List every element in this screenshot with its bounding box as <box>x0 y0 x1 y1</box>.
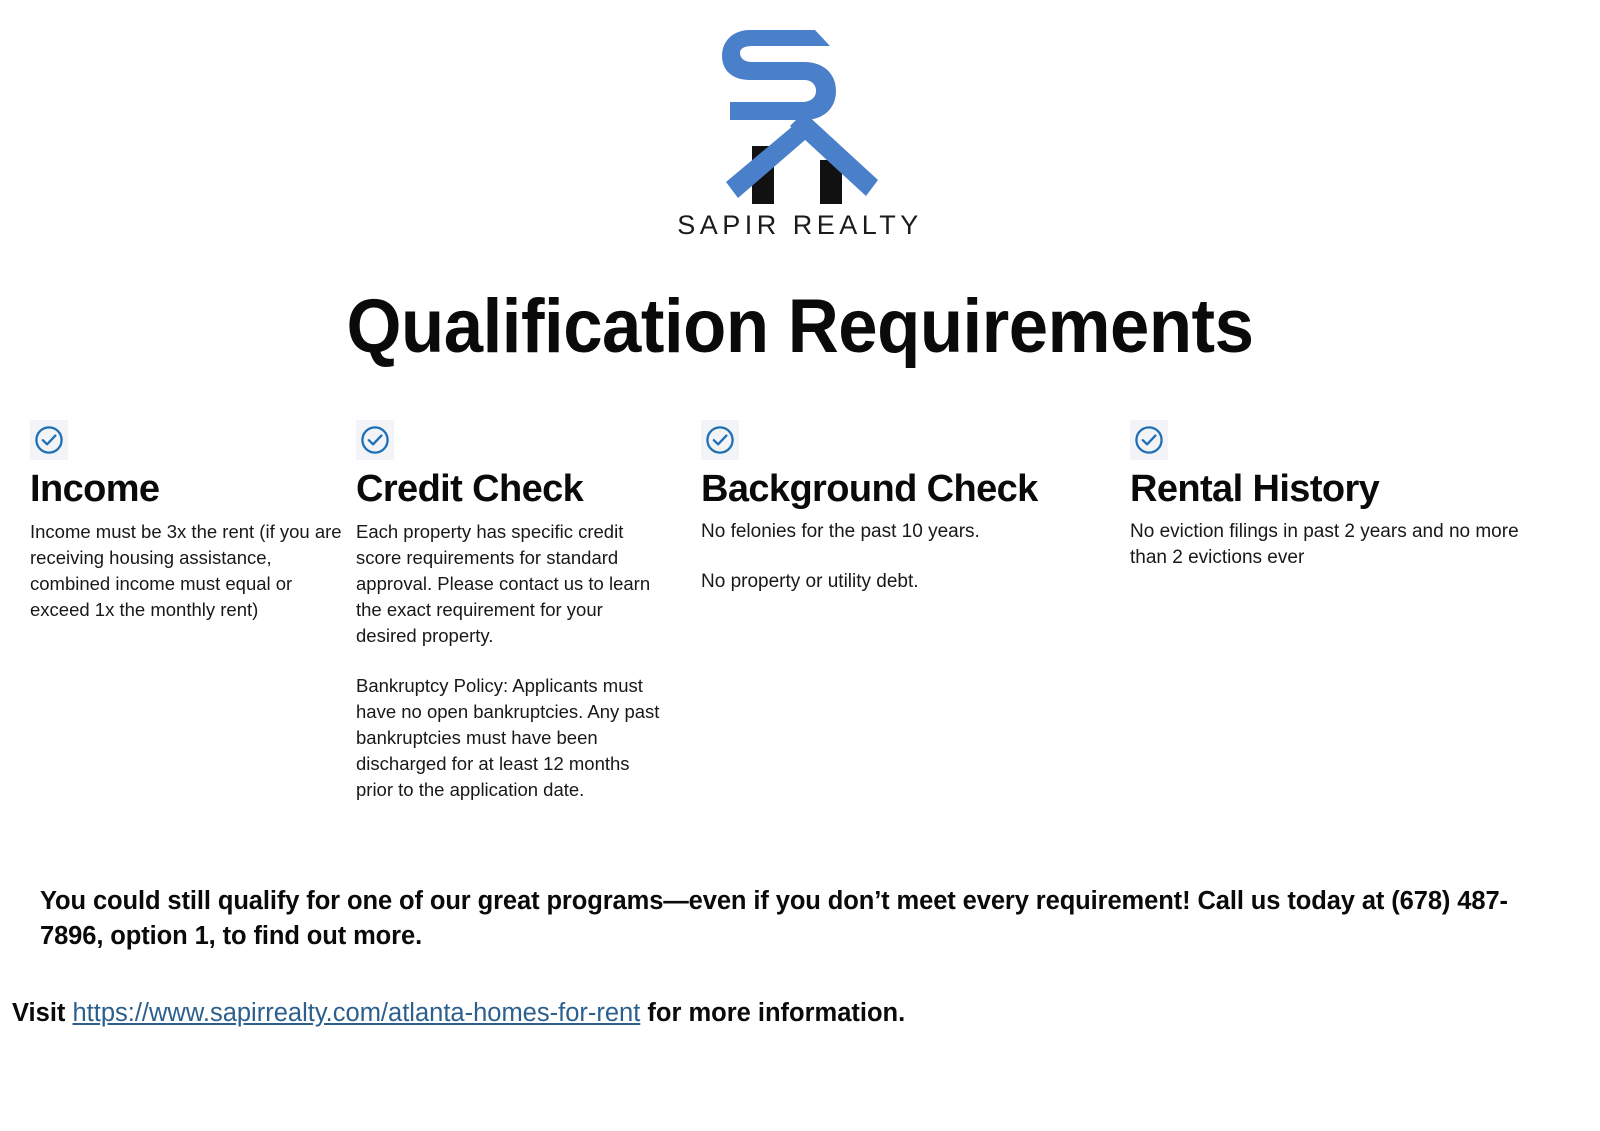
column-paragraph: Each property has specific credit score … <box>356 519 668 649</box>
footer-suffix: for more information. <box>640 999 905 1027</box>
column-heading: Credit Check <box>356 467 668 511</box>
circle-check-icon <box>356 420 394 460</box>
column-paragraph: Income must be 3x the rent (if you are r… <box>30 519 342 623</box>
column-heading: Rental History <box>1130 467 1548 511</box>
website-link[interactable]: https://www.sapirrealty.com/atlanta-home… <box>72 999 640 1027</box>
column-body: Income must be 3x the rent (if you are r… <box>30 519 342 623</box>
brand-wordmark: SAPIR REALTY <box>677 210 923 241</box>
requirement-column-credit-check: Credit Check Each property has specific … <box>356 420 668 803</box>
column-heading: Income <box>30 467 342 511</box>
column-paragraph: No felonies for the past 10 years. <box>701 519 1101 545</box>
circle-check-icon <box>701 420 739 460</box>
column-paragraph: No property or utility debt. <box>701 569 1101 595</box>
qualify-callout-text: You could still qualify for one of our g… <box>40 884 1520 954</box>
column-body: Each property has specific credit score … <box>356 519 668 803</box>
column-body: No eviction filings in past 2 years and … <box>1130 519 1548 571</box>
requirement-column-income: Income Income must be 3x the rent (if yo… <box>30 420 342 623</box>
circle-check-icon <box>1130 420 1168 460</box>
brand-logo-block: SAPIR REALTY <box>0 28 1600 241</box>
sapir-realty-house-monogram-icon <box>720 28 880 204</box>
footer-info-line: Visit https://www.sapirrealty.com/atlant… <box>12 996 1512 1030</box>
requirement-column-rental-history: Rental History No eviction filings in pa… <box>1130 420 1548 571</box>
circle-check-icon <box>30 420 68 460</box>
footer-prefix: Visit <box>12 999 72 1027</box>
column-heading: Background Check <box>701 467 1101 511</box>
column-paragraph: Bankruptcy Policy: Applicants must have … <box>356 673 668 803</box>
column-paragraph: No eviction filings in past 2 years and … <box>1130 519 1548 571</box>
requirements-columns: Income Income must be 3x the rent (if yo… <box>0 420 1600 860</box>
page-title: Qualification Requirements <box>56 284 1544 370</box>
requirement-column-background-check: Background Check No felonies for the pas… <box>701 420 1101 595</box>
column-body: No felonies for the past 10 years. No pr… <box>701 519 1101 595</box>
